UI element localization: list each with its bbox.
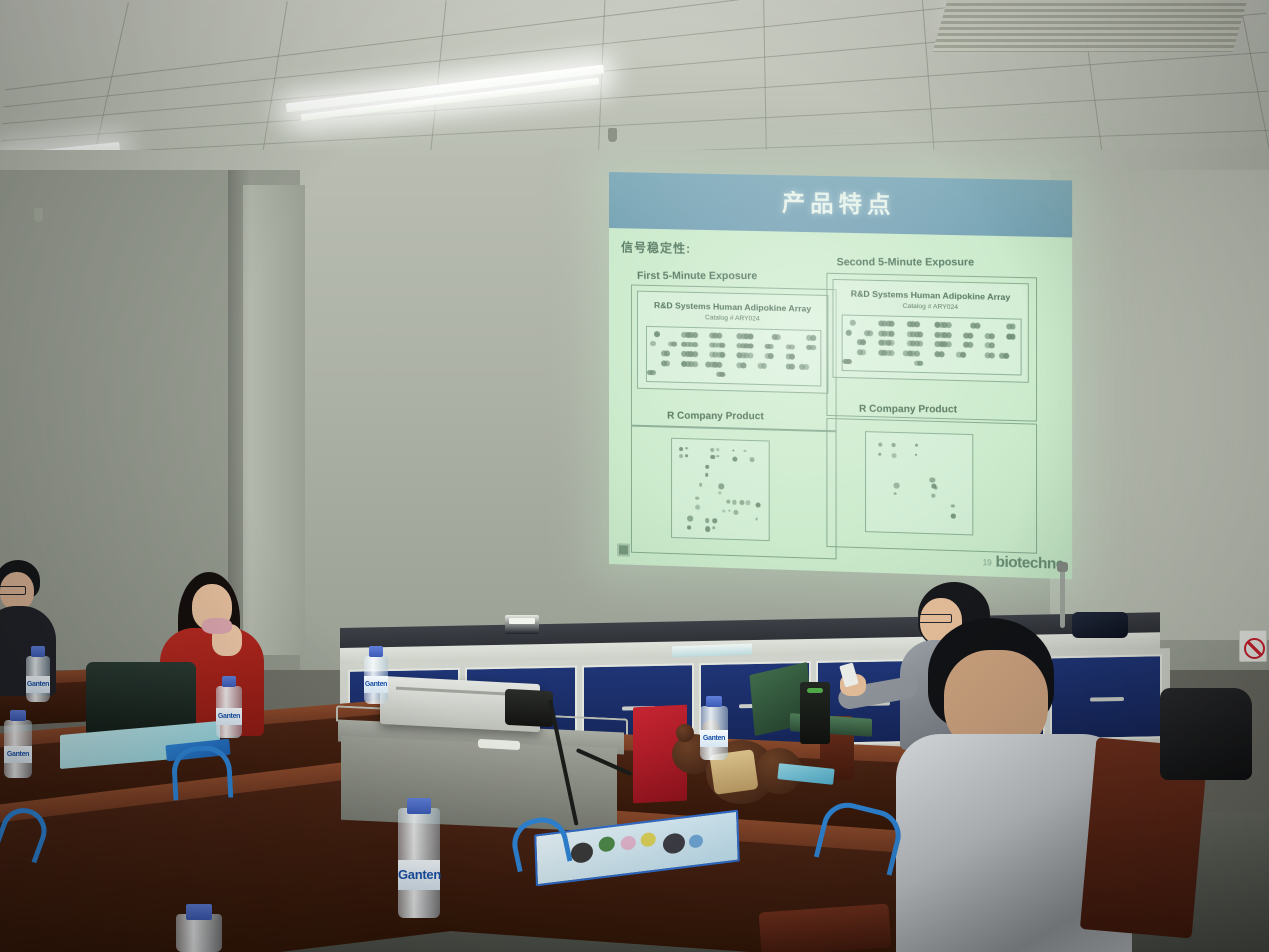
black-speaker-tower <box>800 682 830 744</box>
array-dot <box>846 359 852 365</box>
array-dot <box>889 330 895 336</box>
folder-graphic <box>663 832 686 855</box>
array-dot <box>692 361 698 367</box>
array-dot <box>686 447 689 450</box>
array-dot <box>951 514 956 519</box>
glasses-icon <box>0 586 26 595</box>
array-dot <box>889 340 895 346</box>
water-bottle <box>176 904 222 952</box>
bottle-label: Ganten <box>4 746 32 763</box>
array-dot <box>720 342 726 348</box>
array-card-left: R&D Systems Human Adipokine Array Catalo… <box>637 291 828 394</box>
right-wall <box>1050 170 1269 640</box>
array-dot <box>946 332 952 338</box>
array-dot <box>679 447 684 452</box>
array-dot <box>692 332 698 338</box>
array-dot <box>755 518 758 521</box>
array-dot <box>705 518 709 523</box>
array-dot <box>789 354 795 360</box>
array-dot <box>664 360 670 366</box>
comparison-label-left: R Company Product <box>667 411 764 423</box>
array-dot <box>768 353 774 359</box>
chair-front[interactable] <box>759 904 892 952</box>
array-dot <box>720 371 726 377</box>
array-dot <box>747 333 753 339</box>
array-dot <box>671 341 677 347</box>
array-dot <box>711 455 716 460</box>
array-dot <box>789 363 795 369</box>
array-dot <box>967 342 973 348</box>
slide-subheading: 信号稳定性: <box>621 238 691 257</box>
array-dot <box>974 323 980 329</box>
array-dot <box>1010 333 1016 339</box>
array-dot <box>810 345 816 351</box>
no-smoking-sign-icon <box>1239 630 1267 662</box>
folder-graphic <box>598 836 615 853</box>
array-dot <box>740 500 745 505</box>
collar <box>202 618 232 634</box>
array-title: R&D Systems Human Adipokine Array <box>638 300 827 314</box>
folder-graphic <box>571 841 594 864</box>
array-dot <box>915 443 918 446</box>
chair-back-left[interactable] <box>86 662 196 734</box>
folder-graphic <box>621 835 636 851</box>
black-handbag <box>1160 688 1252 780</box>
array-dot <box>867 330 873 336</box>
water-bottle: Ganten <box>26 646 50 702</box>
array-dot <box>692 342 698 348</box>
array-dot <box>917 341 923 347</box>
array-dot <box>679 454 683 458</box>
conference-room-photo: 产品特点 信号稳定性: First 5-Minute Exposure R&D … <box>0 0 1269 952</box>
array-dot <box>650 370 656 376</box>
exposure-label-first: First 5-Minute Exposure <box>637 270 757 282</box>
presentation-slide: 产品特点 信号稳定性: First 5-Minute Exposure R&D … <box>609 172 1072 579</box>
projector-lens-icon <box>505 689 553 728</box>
array-dot <box>687 516 692 522</box>
array-dot <box>654 331 660 337</box>
sprinkler-head-icon <box>34 208 43 222</box>
array-dot <box>1010 323 1016 329</box>
array-dot <box>728 509 731 512</box>
projection-screen: 产品特点 信号稳定性: First 5-Minute Exposure R&D … <box>609 172 1072 579</box>
array-dot <box>718 491 721 494</box>
array-dot <box>734 509 739 514</box>
array-dot <box>951 504 955 508</box>
array-dot <box>705 473 709 477</box>
array-catalog: Catalog # ARY024 <box>638 313 827 325</box>
bottle-label: Ganten <box>364 676 388 693</box>
comparison-label-right: R Company Product <box>859 404 957 416</box>
array-dot <box>692 351 698 357</box>
array-dot <box>695 496 699 500</box>
array-dot <box>960 352 966 358</box>
water-bottle: Ganten <box>364 646 388 704</box>
array-dot <box>917 331 923 337</box>
array-dot <box>967 332 973 338</box>
array-dot <box>687 526 690 530</box>
ceiling-air-vent-icon <box>933 0 1248 52</box>
array-dot <box>749 457 754 462</box>
array-dot <box>743 450 745 453</box>
array-dot <box>686 454 689 457</box>
array-card-right: R&D Systems Human Adipokine Array Catalo… <box>833 279 1029 383</box>
array-title: R&D Systems Human Adipokine Array <box>834 288 1028 303</box>
array-dot <box>946 341 952 347</box>
array-blot-left <box>646 326 821 387</box>
comparison-blot-right <box>865 431 973 535</box>
water-bottle: Ganten <box>4 710 32 780</box>
water-bottle: Ganten <box>398 798 440 922</box>
array-dot <box>775 334 781 340</box>
array-dot <box>711 448 715 452</box>
array-dot <box>705 465 709 469</box>
array-dot <box>879 452 882 455</box>
folder-graphic <box>641 832 656 848</box>
array-dot <box>732 456 737 462</box>
array-dot <box>850 320 856 326</box>
array-dot <box>889 321 895 327</box>
array-dot <box>755 502 760 507</box>
array-dot <box>917 360 923 366</box>
array-dot <box>915 453 917 455</box>
array-dot <box>745 500 750 505</box>
array-dot <box>860 349 866 355</box>
array-dot <box>810 335 816 341</box>
array-dot <box>716 455 718 457</box>
array-dot <box>716 333 722 339</box>
array-dot <box>720 352 726 358</box>
comparison-blot-left <box>671 438 770 541</box>
exposure-label-second: Second 5-Minute Exposure <box>836 256 974 268</box>
array-dot <box>722 509 725 512</box>
bottle-label: Ganten <box>398 860 440 890</box>
water-bottle: Ganten <box>216 676 242 738</box>
array-dot <box>732 449 735 452</box>
array-dot <box>930 478 935 484</box>
array-dot <box>695 504 700 509</box>
array-dot <box>932 493 936 497</box>
folder-graphic <box>689 834 703 849</box>
ceiling-tile-line <box>1 91 1268 158</box>
array-dot <box>803 364 809 370</box>
array-dot <box>1003 353 1009 359</box>
array-dot <box>732 500 737 505</box>
array-dot <box>789 344 795 350</box>
array-dot <box>879 442 883 446</box>
array-dot <box>747 353 753 359</box>
array-dot <box>914 350 920 356</box>
array-dot <box>713 526 716 529</box>
array-blot-right <box>842 314 1022 375</box>
tote-bag-handle <box>171 744 234 800</box>
array-dot <box>761 363 767 369</box>
array-dot <box>860 339 866 345</box>
array-dot <box>889 350 895 356</box>
array-dot <box>891 453 896 458</box>
array-dot <box>650 341 656 347</box>
array-dot <box>894 482 900 488</box>
array-dot <box>891 443 895 448</box>
water-bottle: Ganten <box>700 696 728 762</box>
rd-systems-logo-icon <box>617 543 630 556</box>
array-dot <box>988 343 994 349</box>
array-catalog: Catalog # ARY024 <box>834 301 1028 313</box>
slide-page-number: 19 <box>983 558 992 567</box>
array-dot <box>768 344 774 350</box>
array-dot <box>932 484 937 489</box>
bottle-label: Ganten <box>700 730 728 747</box>
array-dot <box>894 492 897 495</box>
array-dot <box>718 483 723 489</box>
array-dot <box>713 519 718 524</box>
array-dot <box>699 483 702 487</box>
biotechne-logo: biotechne <box>996 553 1064 572</box>
sprinkler-head-icon <box>608 128 617 142</box>
bottle-label: Ganten <box>216 708 242 725</box>
array-dot <box>747 343 753 349</box>
bear-ear <box>676 724 694 742</box>
ceiling-tile-line <box>2 52 1268 142</box>
array-dot <box>846 329 852 335</box>
array-dot <box>988 352 994 358</box>
array-dot <box>726 499 730 503</box>
array-dot <box>740 362 746 368</box>
av-control-panel[interactable] <box>505 615 539 634</box>
array-dot <box>716 362 722 368</box>
array-dot <box>938 351 944 357</box>
array-dot <box>716 448 719 451</box>
array-dot <box>664 351 670 357</box>
array-dot <box>914 321 920 327</box>
array-dot <box>988 333 994 339</box>
array-dot <box>705 526 710 532</box>
array-dot <box>946 322 952 328</box>
bottle-label: Ganten <box>26 676 50 693</box>
